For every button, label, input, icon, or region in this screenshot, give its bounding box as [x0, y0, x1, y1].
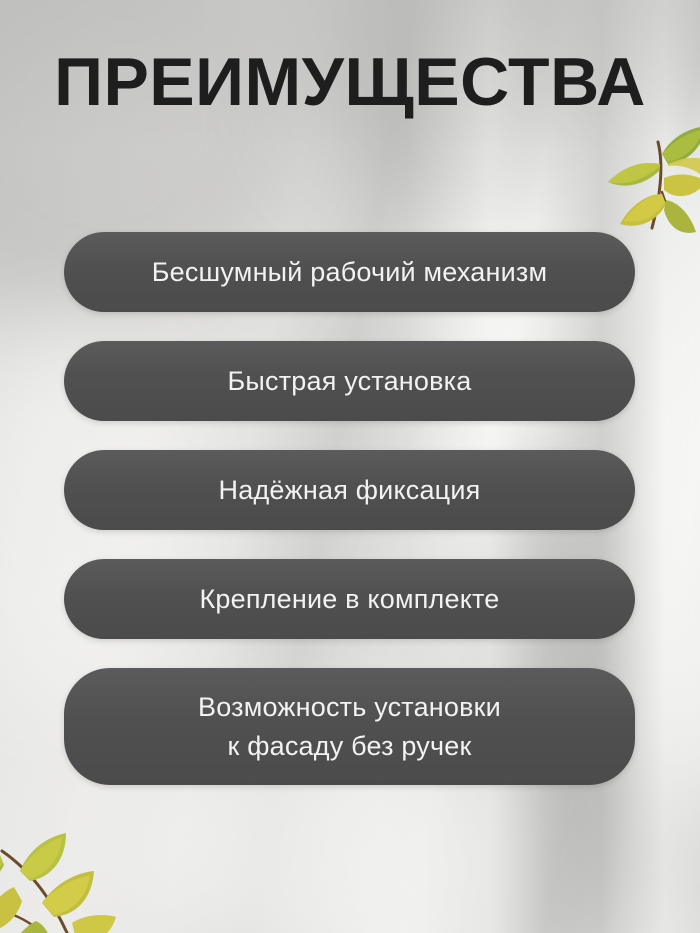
benefit-label: Надёжная фиксация [219, 471, 481, 509]
benefit-label: Бесшумный рабочий механизм [152, 253, 548, 291]
benefits-poster: ПРЕИМУЩЕСТВА Бесшумный рабочий механизм … [0, 0, 700, 933]
benefit-label: Крепление в комплекте [200, 580, 500, 618]
leaf-branch-icon [586, 120, 700, 245]
benefit-label: Быстрая установка [227, 362, 471, 400]
benefit-pill: Надёжная фиксация [64, 450, 635, 530]
page-title: ПРЕИМУЩЕСТВА [0, 48, 700, 116]
leaf-branch-icon [0, 811, 129, 933]
benefit-label: Возможность установки к фасаду без ручек [198, 688, 501, 765]
benefit-pill: Бесшумный рабочий механизм [64, 232, 635, 312]
benefits-list: Бесшумный рабочий механизм Быстрая устан… [64, 232, 635, 785]
benefit-pill: Крепление в комплекте [64, 559, 635, 639]
benefit-pill: Возможность установки к фасаду без ручек [64, 668, 635, 785]
benefit-pill: Быстрая установка [64, 341, 635, 421]
